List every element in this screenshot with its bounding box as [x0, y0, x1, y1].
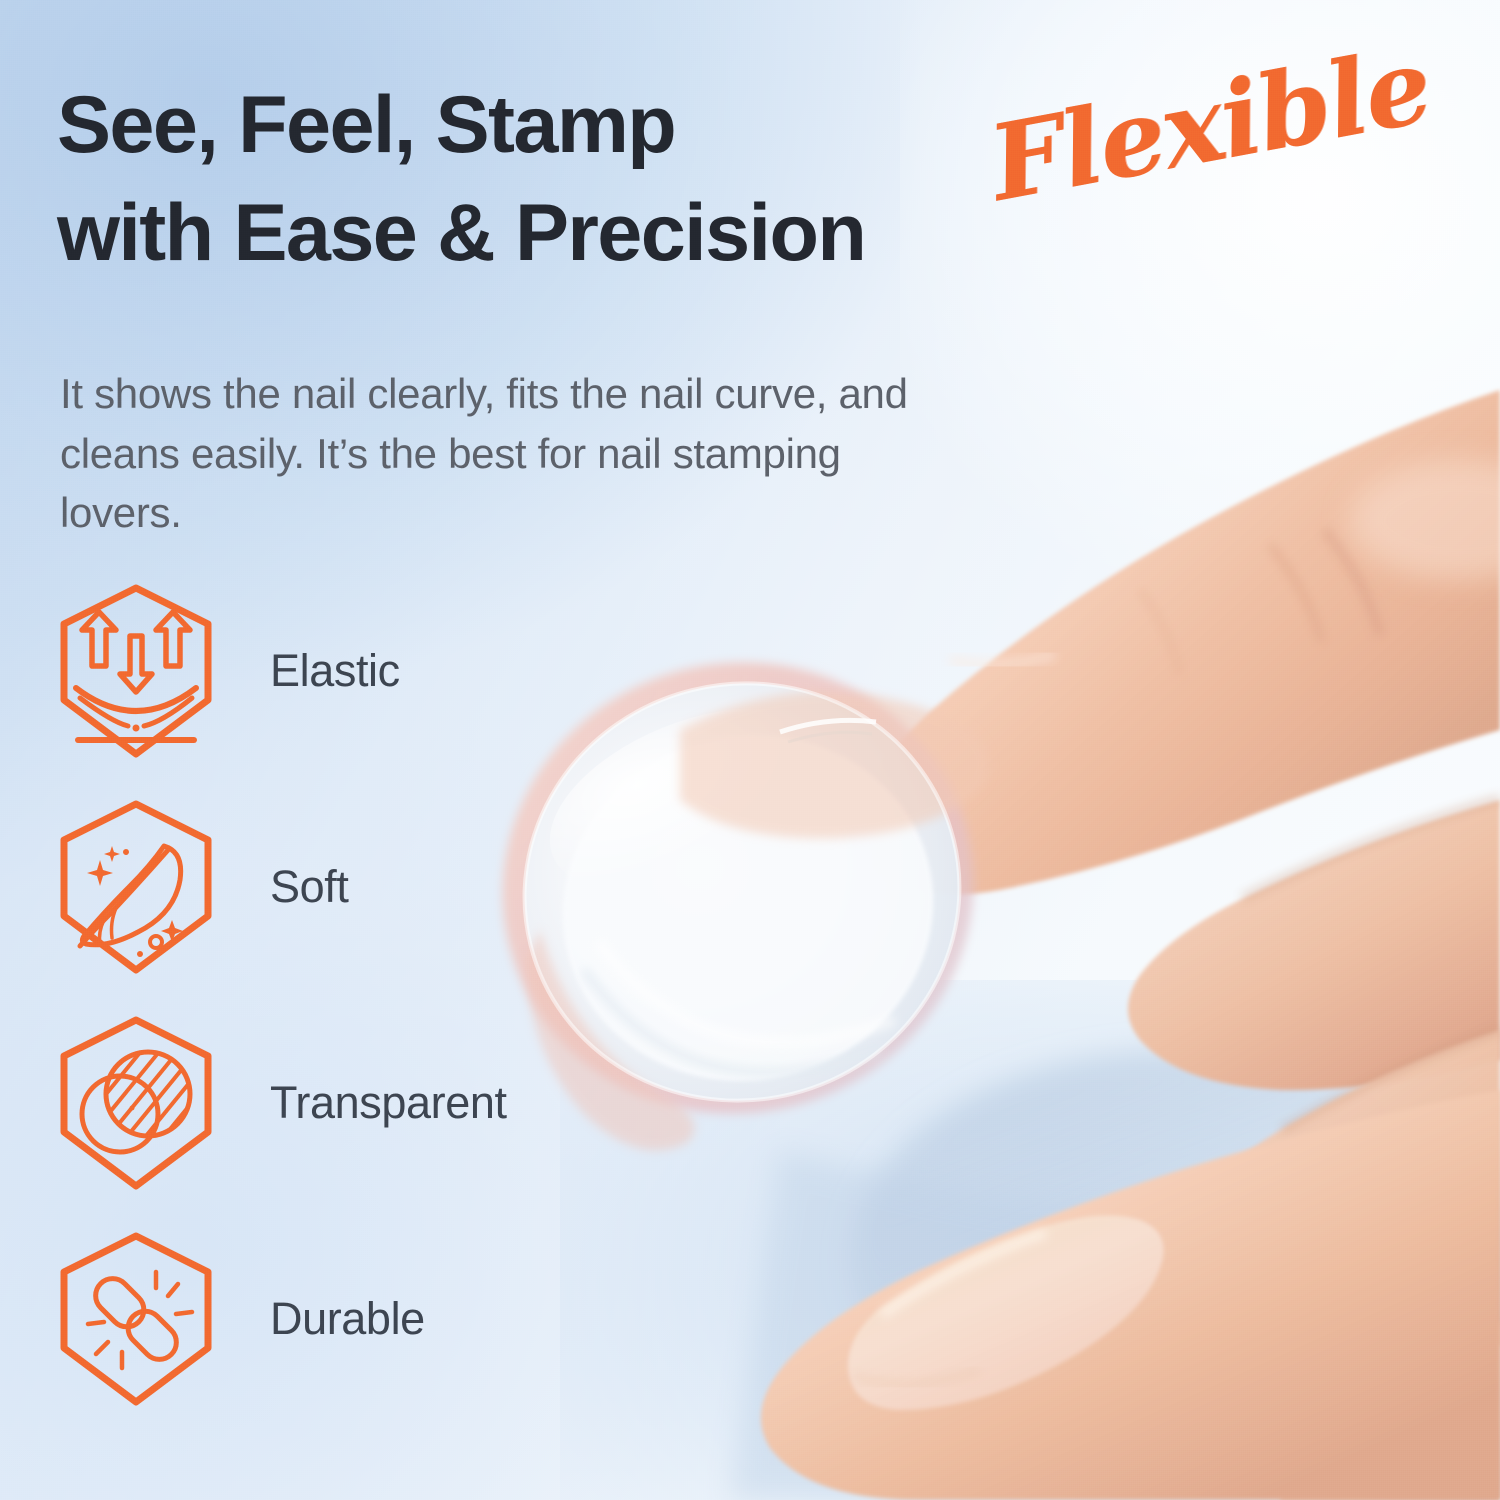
paper-texture-overlay: [0, 0, 1500, 1500]
product-feature-banner: See, Feel, Stamp with Ease & Precision F…: [0, 0, 1500, 1500]
